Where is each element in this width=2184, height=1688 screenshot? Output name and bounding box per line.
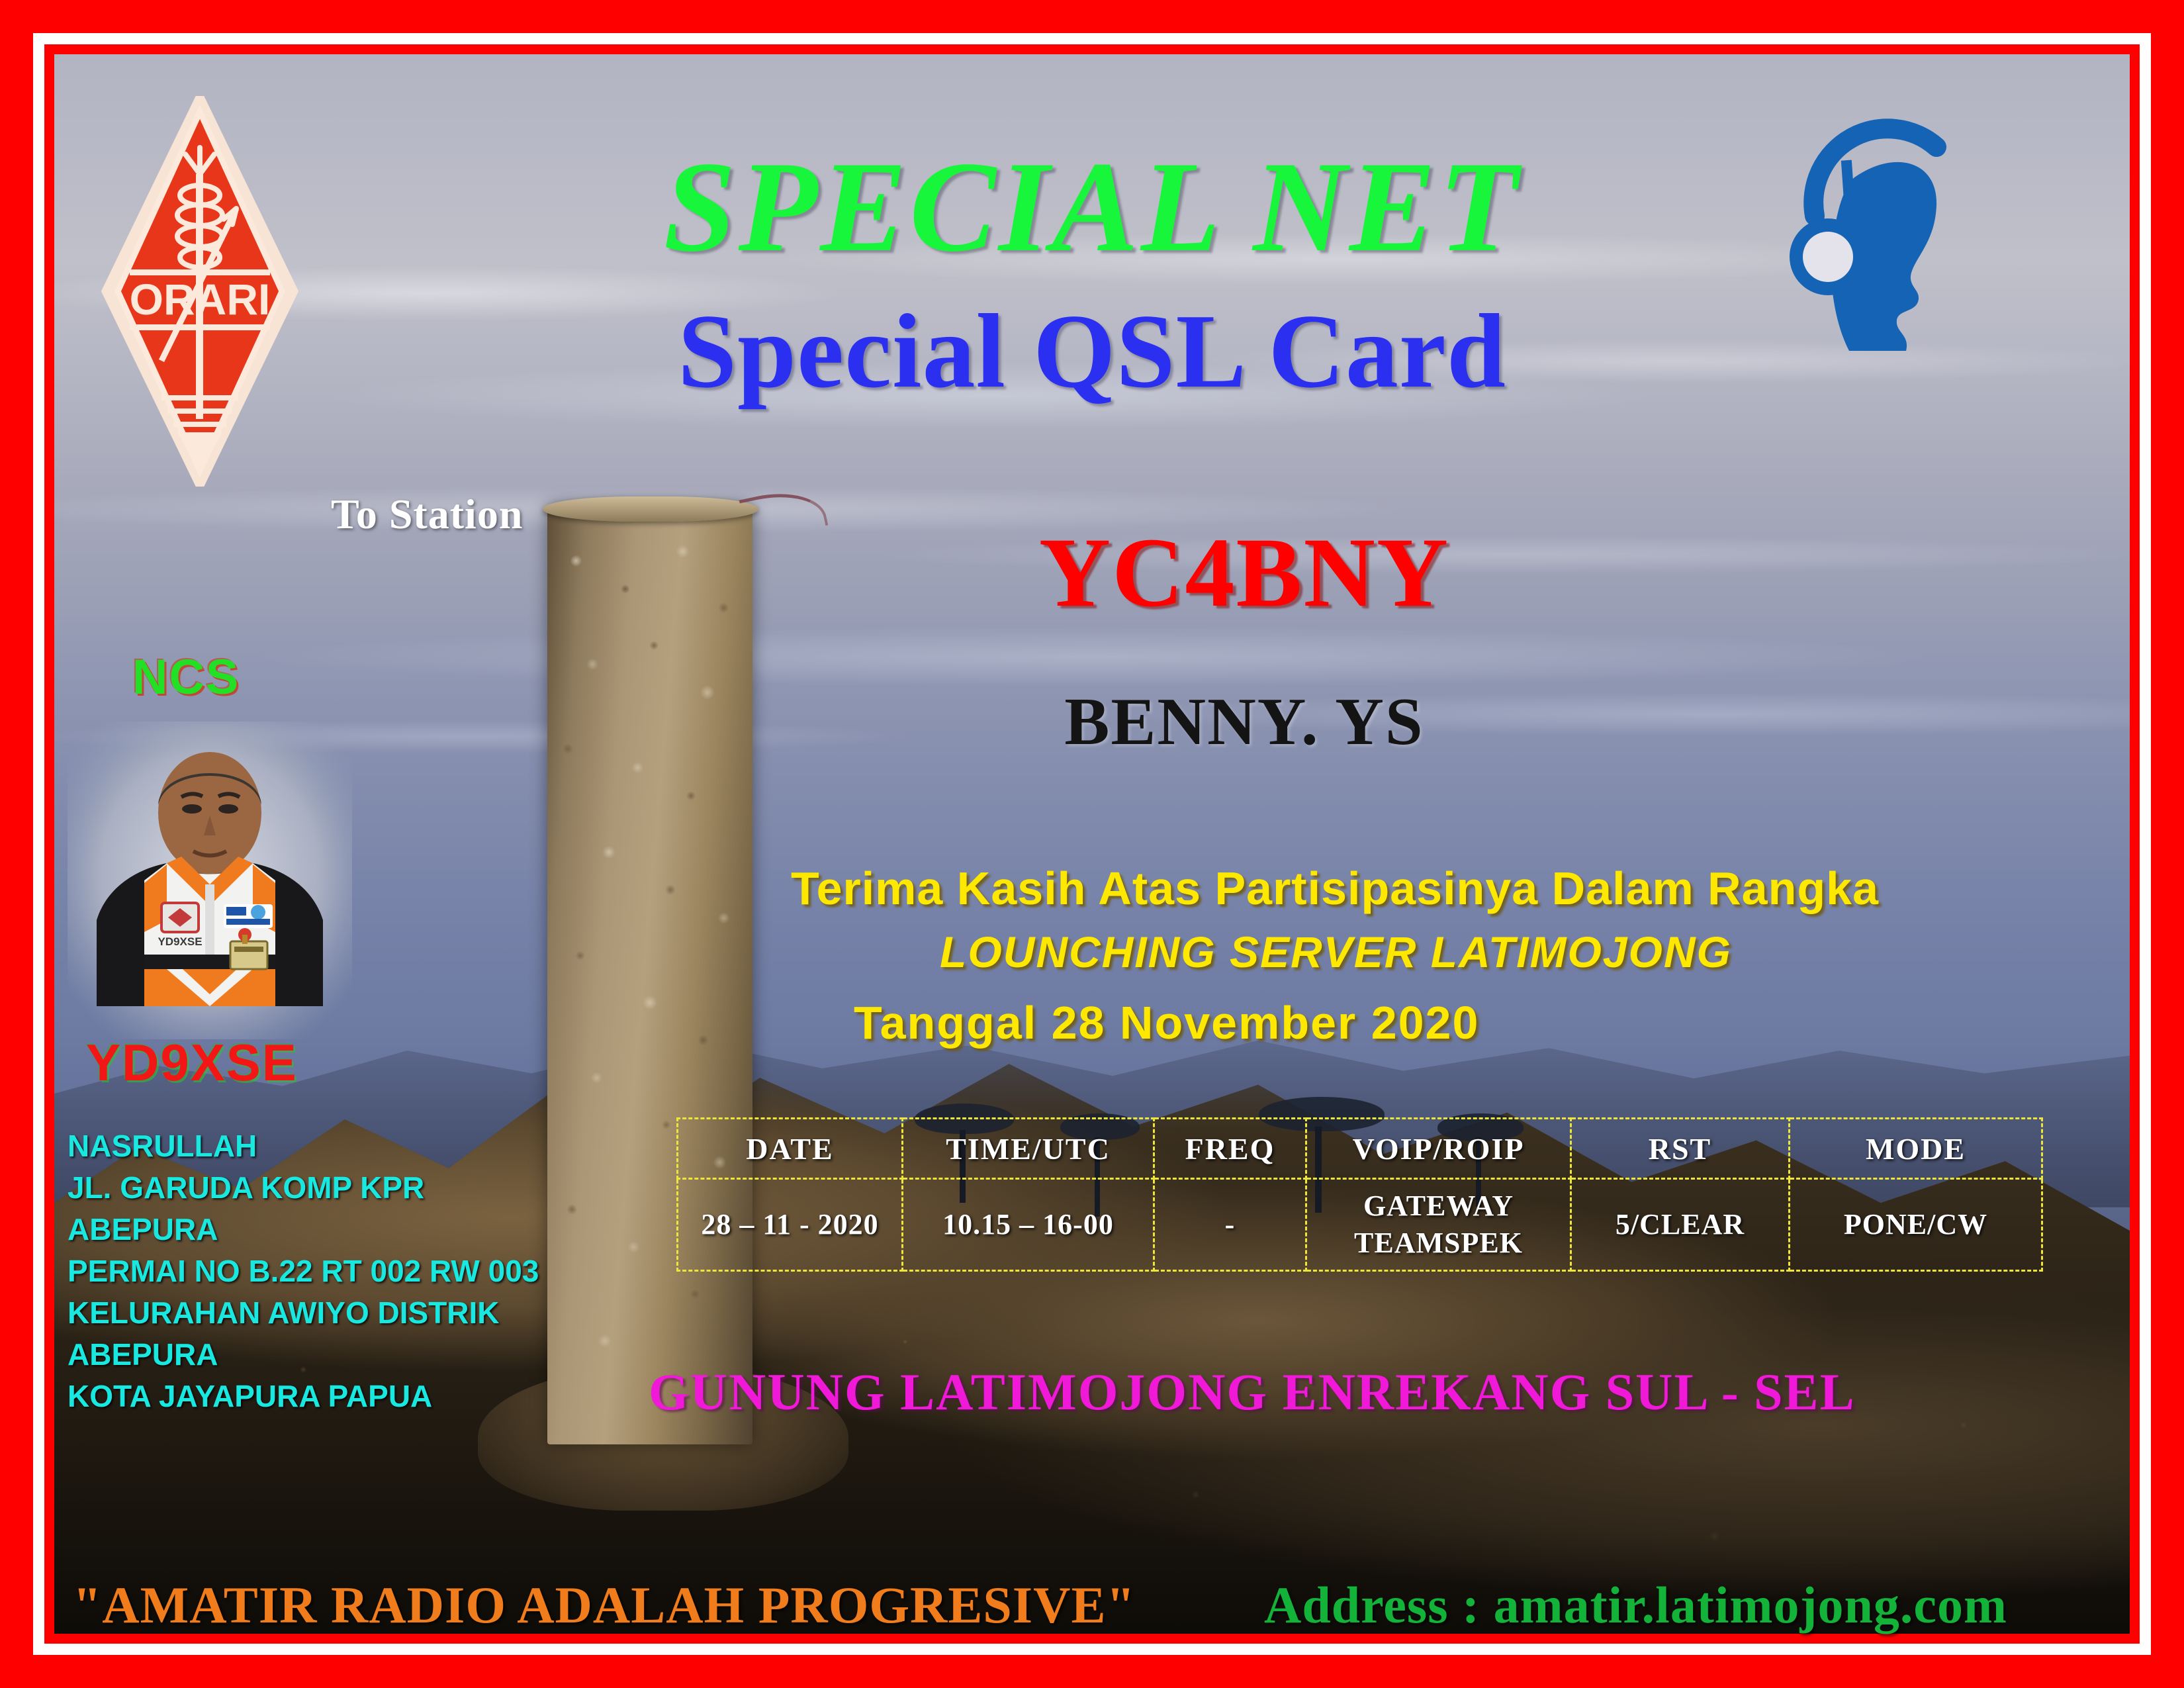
cell-time: 10.15 – 16-00 — [903, 1179, 1154, 1271]
cell-freq: - — [1154, 1179, 1306, 1271]
address-line: KOTA JAYAPURA PAPUA — [68, 1376, 539, 1417]
address-line: NASRULLAH — [68, 1125, 539, 1167]
cell-rst: 5/CLEAR — [1571, 1179, 1790, 1271]
table-row: 28 – 11 - 2020 10.15 – 16-00 - GATEWAY T… — [678, 1179, 2042, 1271]
footer-slogan: "AMATIR RADIO ADALAH PROGRESIVE" — [73, 1575, 1136, 1635]
thanks-line-2: LOUNCHING SERVER LATIMOJONG — [940, 927, 1732, 977]
page-subtitle: Special QSL Card — [463, 298, 1721, 404]
headphone-profile-logo — [1780, 99, 2045, 364]
ncs-callsign: YD9XSE — [86, 1033, 298, 1093]
to-station-label: To Station — [331, 490, 523, 539]
col-header-voip: VOIP/ROIP — [1306, 1119, 1571, 1179]
page-title: SPECIAL NET — [463, 142, 1721, 272]
address-line: ABEPURA — [68, 1209, 539, 1250]
cell-voip-line2: TEAMSPEK — [1354, 1227, 1523, 1259]
address-line: KELURAHAN AWIYO DISTRIK — [68, 1292, 539, 1334]
station-callsign: YC4BNY — [913, 523, 1575, 622]
cell-voip-line1: GATEWAY — [1363, 1190, 1514, 1222]
footer-address-url: Address : amatir.latimojong.com — [1264, 1575, 2007, 1635]
thanks-line-1: Terima Kasih Atas Partisipasinya Dalam R… — [791, 862, 1879, 915]
cell-date: 28 – 11 - 2020 — [678, 1179, 903, 1271]
uniform-callsign-text: YD9XSE — [158, 935, 202, 948]
cell-voip: GATEWAY TEAMSPEK — [1306, 1179, 1571, 1271]
thanks-line-3: Tanggal 28 November 2020 — [854, 996, 1479, 1049]
ncs-label: NCS — [132, 649, 240, 705]
qso-details-table: DATE TIME/UTC FREQ VOIP/ROIP RST MODE 28… — [676, 1117, 2043, 1272]
cell-mode: PONE/CW — [1790, 1179, 2042, 1271]
qsl-card: ORARI SPE — [0, 0, 2184, 1688]
pillar-stone-texture — [547, 504, 752, 1444]
col-header-rst: RST — [1571, 1119, 1790, 1179]
col-header-mode: MODE — [1790, 1119, 2042, 1179]
address-line: ABEPURA — [68, 1334, 539, 1376]
col-header-time: TIME/UTC — [903, 1119, 1154, 1179]
table-header-row: DATE TIME/UTC FREQ VOIP/ROIP RST MODE — [678, 1119, 2042, 1179]
address-line: JL. GARUDA KOMP KPR — [68, 1167, 539, 1209]
postal-address-block: NASRULLAH JL. GARUDA KOMP KPR ABEPURA PE… — [68, 1125, 539, 1417]
orari-logo-text: ORARI — [130, 275, 271, 324]
stone-pillar-monument — [547, 504, 752, 1444]
operator-name: BENNY. YS — [913, 688, 1575, 756]
col-header-freq: FREQ — [1154, 1119, 1306, 1179]
pillar-cap — [543, 496, 758, 522]
location-caption: GUNUNG LATIMOJONG ENREKANG SUL - SEL — [649, 1362, 1856, 1422]
ncs-operator-photo: YD9XSE — [68, 722, 352, 1039]
address-line: PERMAI NO B.22 RT 002 RW 003 — [68, 1250, 539, 1292]
orari-logo: ORARI — [101, 96, 299, 487]
col-header-date: DATE — [678, 1119, 903, 1179]
